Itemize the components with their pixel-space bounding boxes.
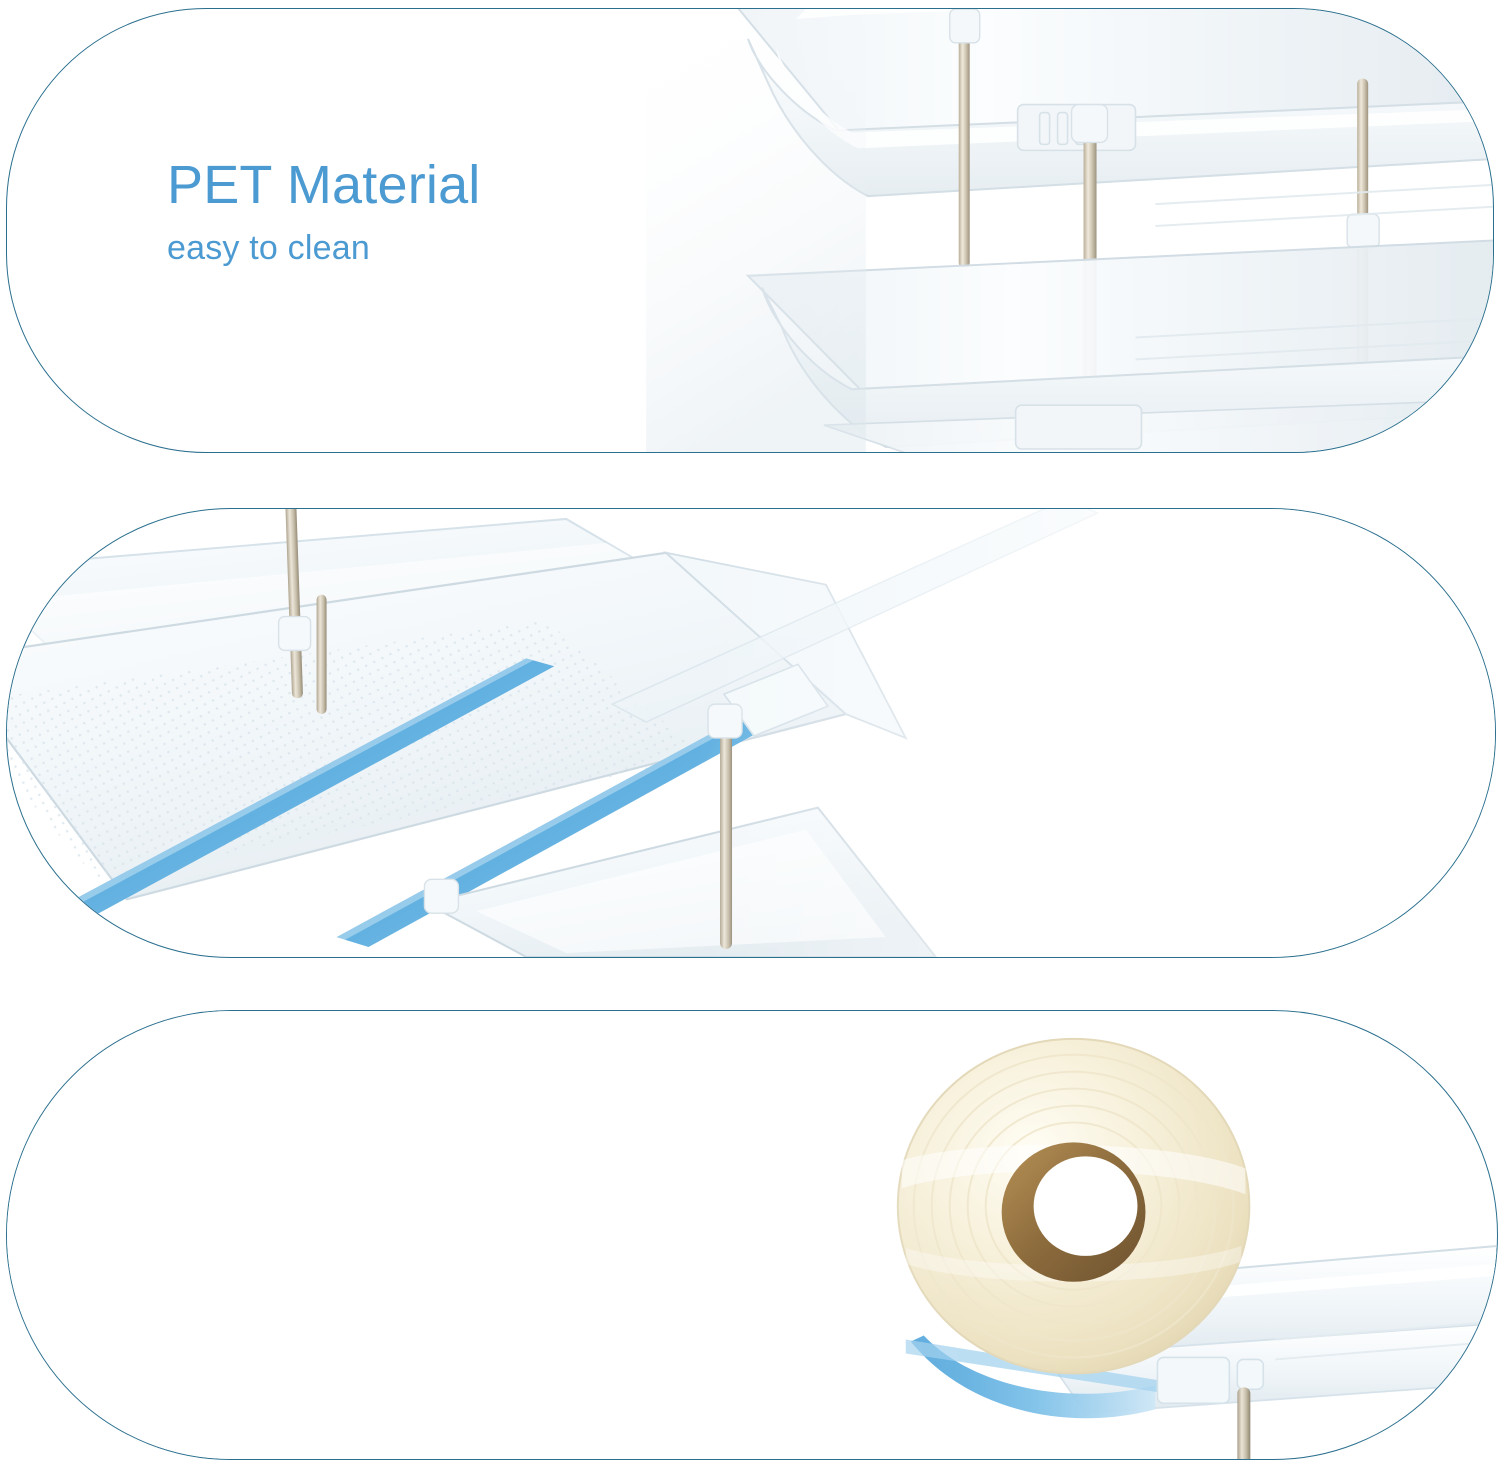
feature-panel-upopening-groove: Upopening groove to prevent cans sliddin…: [6, 1010, 1498, 1460]
infographic-page: PET Material easy to clean: [0, 0, 1500, 1466]
panel-pet-subheading: easy to clean: [167, 230, 481, 267]
panel-pet-text-block: PET Material easy to clean: [167, 157, 481, 267]
feature-panel-automatic-sliding: Automatic Sliding easy to access: [6, 508, 1496, 958]
product-photo-groove-tape-roll: [7, 1011, 1497, 1459]
feature-panel-pet-material: PET Material easy to clean: [6, 8, 1494, 453]
panel-pet-heading: PET Material: [167, 157, 481, 214]
product-photo-sliding-tray: [7, 509, 1495, 957]
